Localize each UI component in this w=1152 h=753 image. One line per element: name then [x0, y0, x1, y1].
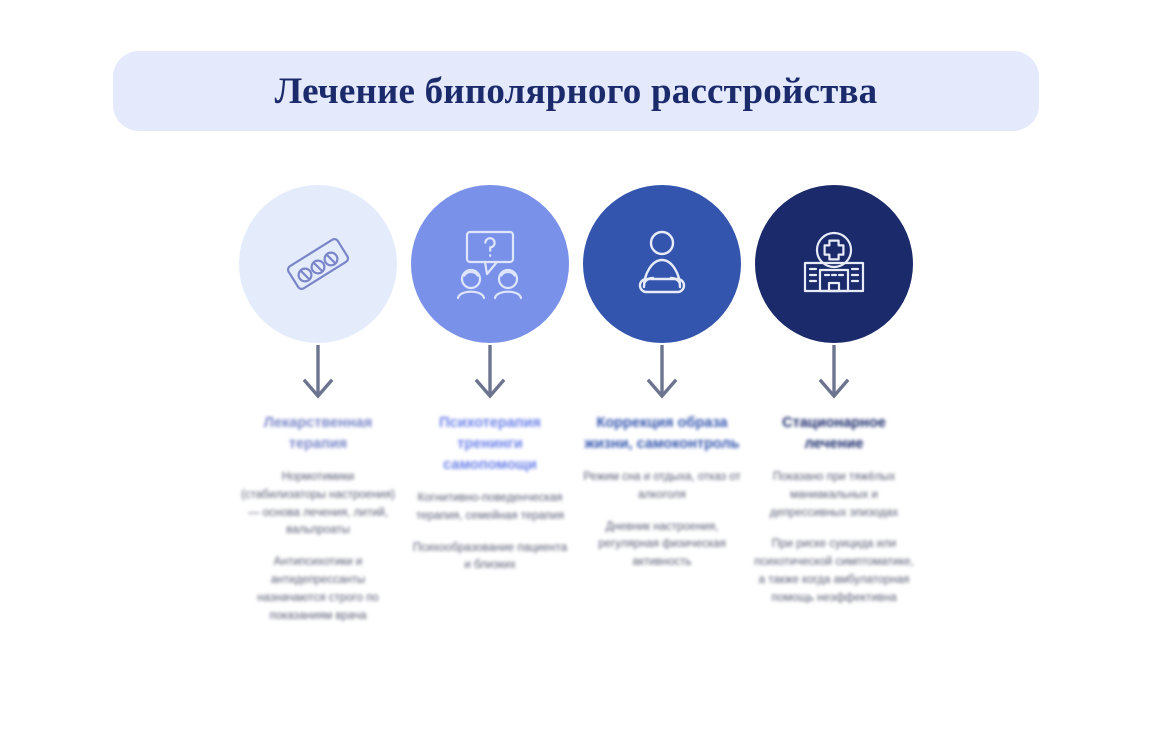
hospital-building-icon [796, 228, 872, 300]
column-heading: Коррекция образа жизни, самоконтроль [582, 413, 742, 455]
circle-lifestyle[interactable] [583, 185, 741, 343]
title-banner: Лечение биполярного расстройства [113, 51, 1039, 131]
circle-inpatient[interactable] [755, 185, 913, 343]
counseling-people-question-icon [449, 226, 531, 302]
treatment-column-lifestyle: Коррекция образа жизни, самоконтроль Реж… [576, 185, 748, 572]
circle-medication[interactable] [239, 185, 397, 343]
column-paragraph: Антипсихотики и антидепрессанты назначаю… [238, 554, 398, 625]
connector-arrow-lifestyle [639, 343, 685, 405]
column-heading: Лекарственная терапия [238, 413, 398, 455]
meditating-person-icon [627, 227, 697, 301]
column-paragraph: Психообразование пациента и близких [410, 540, 570, 576]
column-paragraph: Показано при тяжёлых маниакальных и депр… [754, 469, 914, 522]
pill-blister-pack-icon [281, 227, 355, 301]
connector-arrow-psychotherapy [467, 343, 513, 405]
column-text-inpatient: Стационарное лечение Показано при тяжёлы… [754, 405, 914, 608]
column-paragraph: При риске суицида или психотической симп… [754, 536, 914, 607]
column-text-lifestyle: Коррекция образа жизни, самоконтроль Реж… [582, 405, 742, 572]
column-heading: Стационарное лечение [754, 413, 914, 455]
connector-arrow-inpatient [811, 343, 857, 405]
treatment-column-inpatient: Стационарное лечение Показано при тяжёлы… [748, 185, 920, 608]
column-heading: Психотерапия тренинги самопомощи [410, 413, 570, 476]
treatment-column-psychotherapy: Психотерапия тренинги самопомощи Когнити… [404, 185, 576, 575]
connector-arrow-medication [295, 343, 341, 405]
column-paragraph: Когнитивно-поведенческая терапия, семейн… [410, 490, 570, 526]
column-text-psychotherapy: Психотерапия тренинги самопомощи Когнити… [410, 405, 570, 575]
treatment-column-medication: Лекарственная терапия Нормотимики (стаби… [232, 185, 404, 626]
column-text-medication: Лекарственная терапия Нормотимики (стаби… [238, 405, 398, 626]
circle-psychotherapy[interactable] [411, 185, 569, 343]
column-paragraph: Нормотимики (стабилизаторы настроения) —… [238, 469, 398, 540]
column-paragraph: Режим сна и отдыха, отказ от алкоголя [582, 469, 742, 505]
column-paragraph: Дневник настроения, регулярная физическа… [582, 519, 742, 572]
treatment-columns: Лекарственная терапия Нормотимики (стаби… [232, 185, 922, 626]
page-title: Лечение биполярного расстройства [275, 70, 878, 113]
